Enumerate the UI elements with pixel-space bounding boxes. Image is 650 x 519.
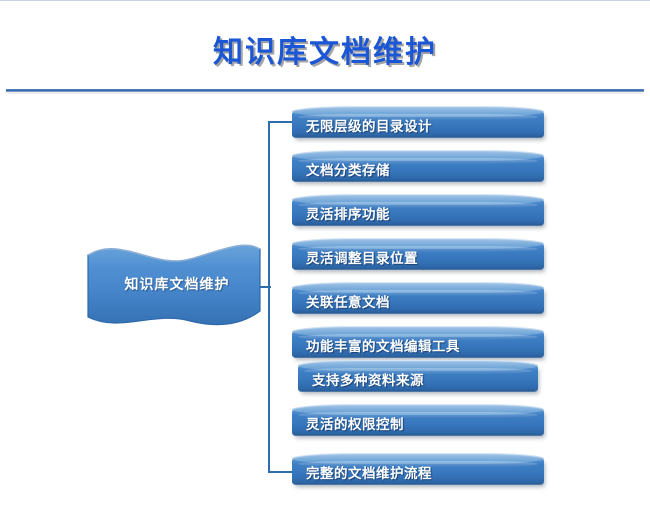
feature-box-3[interactable]: 灵活排序功能 bbox=[292, 194, 544, 226]
feature-box-1[interactable]: 无限层级的目录设计 bbox=[292, 106, 544, 138]
feature-box-label-4: 灵活调整目录位置 bbox=[306, 243, 534, 270]
feature-box-label-9: 完整的文档维护流程 bbox=[306, 458, 534, 485]
feature-box-4[interactable]: 灵活调整目录位置 bbox=[292, 238, 544, 270]
feature-box-5[interactable]: 关联任意文档 bbox=[292, 282, 544, 314]
feature-box-2[interactable]: 文档分类存储 bbox=[292, 150, 544, 182]
feature-box-7[interactable]: 支持多种资料来源 bbox=[298, 360, 538, 392]
feature-box-label-1: 无限层级的目录设计 bbox=[306, 111, 534, 138]
feature-box-list: 无限层级的目录设计 文档分类存储 灵活排序功能 灵活调整目录位置 关联任意文档 bbox=[0, 1, 650, 519]
feature-box-9[interactable]: 完整的文档维护流程 bbox=[292, 453, 544, 485]
feature-box-6[interactable]: 功能丰富的文档编辑工具 bbox=[292, 326, 544, 358]
feature-box-label-7: 支持多种资料来源 bbox=[312, 365, 528, 392]
feature-box-label-6: 功能丰富的文档编辑工具 bbox=[306, 331, 534, 358]
feature-box-label-5: 关联任意文档 bbox=[306, 287, 534, 314]
feature-box-8[interactable]: 灵活的权限控制 bbox=[292, 404, 544, 436]
feature-box-label-3: 灵活排序功能 bbox=[306, 199, 534, 226]
feature-box-label-8: 灵活的权限控制 bbox=[306, 409, 534, 436]
slide-canvas: 知识库文档维护 知识库文档维护 bbox=[0, 0, 650, 519]
feature-box-label-2: 文档分类存储 bbox=[306, 155, 534, 182]
